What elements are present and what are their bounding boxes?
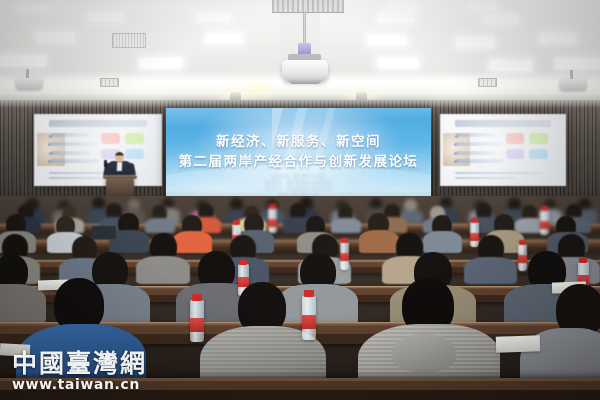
bottle-label	[190, 318, 204, 332]
slide-bullet	[51, 159, 100, 163]
ceiling-panel-light	[206, 34, 242, 43]
water-bottle	[340, 242, 349, 270]
slide-left	[34, 114, 162, 186]
ceiling-panel-light	[140, 58, 182, 68]
laptop	[92, 226, 116, 239]
attendee-torso	[145, 218, 175, 233]
ceiling	[0, 0, 600, 104]
ceiling-panel-light	[368, 35, 406, 45]
ceiling-panel-light	[484, 14, 518, 23]
attendee-torso	[423, 231, 462, 253]
ceiling-air-grille	[112, 33, 146, 48]
water-bottle	[302, 296, 316, 340]
bottle-label	[540, 221, 549, 229]
projection-screen-right	[440, 114, 566, 186]
paper-handout	[496, 335, 541, 353]
desk-front-lip	[0, 378, 600, 400]
ceiling-panel-light	[540, 33, 576, 43]
bottle-cap	[541, 206, 548, 211]
audience-seating-area	[0, 196, 600, 400]
ceiling-panel-light	[470, 2, 498, 10]
ceiling-panel-light	[378, 58, 418, 68]
ceiling-panel-light	[18, 4, 48, 12]
bottle-cap	[471, 218, 478, 223]
banner-headline-line2: 第二届两岸产经合作与创新发展论坛	[166, 150, 431, 170]
bottle-label	[302, 315, 316, 329]
ceiling-panel-light	[0, 55, 46, 66]
slide-swatch-pink	[101, 133, 120, 144]
paper-handout	[0, 343, 30, 357]
side-projector-left-icon	[16, 78, 42, 89]
bottle-cap	[233, 220, 240, 225]
slide-right	[440, 114, 566, 186]
slide-swatch-pink	[506, 133, 525, 144]
bottle-cap	[519, 240, 526, 245]
wall-outlet-plate	[100, 78, 119, 87]
slide-bullet	[51, 133, 89, 137]
slide-bullet	[456, 159, 504, 163]
slide-bullet	[51, 151, 91, 155]
bottle-cap	[239, 260, 247, 265]
ceiling-panel-light	[388, 3, 418, 11]
speaker-head	[115, 152, 124, 162]
bottle-label	[518, 255, 527, 263]
ceiling-panel-light	[456, 37, 494, 47]
slide-footer-note	[455, 172, 543, 175]
ceiling-panel-light	[88, 12, 122, 21]
bottle-cap	[341, 238, 348, 243]
slide-swatch-blue	[529, 149, 548, 160]
conference-photo: 新经济、新服务、新空间 第二届两岸产经合作与创新发展论坛 主办单位：厦门市人民政…	[0, 0, 600, 400]
bottle-label	[268, 219, 277, 227]
projection-screen-left	[34, 114, 162, 186]
slide-swatch-green	[125, 133, 144, 144]
attendee-torso	[136, 256, 190, 284]
slide-bullet	[456, 142, 501, 146]
ceiling-panel-light	[556, 58, 600, 69]
slide-swatch-purple	[506, 149, 525, 160]
bottle-cap	[579, 258, 587, 263]
projector-mount-pole	[303, 11, 306, 45]
ceiling-panel-light	[196, 12, 230, 21]
bottle-cap	[269, 204, 276, 209]
ceiling-panel-light	[378, 13, 414, 22]
slide-bullet	[51, 142, 97, 146]
wall-top-highlight	[0, 100, 600, 108]
water-bottle	[190, 300, 204, 342]
hoodie-hood	[392, 334, 456, 372]
attendee-torso	[464, 257, 517, 284]
water-bottle	[518, 244, 527, 271]
ceiling-panel-light	[36, 32, 74, 42]
slide-swatch-blue	[125, 149, 144, 160]
attendee-torso	[278, 284, 358, 326]
slide-bullet	[456, 151, 495, 155]
side-projector-right-icon	[560, 79, 586, 90]
banner-headline-line1: 新经济、新服务、新空间	[166, 130, 431, 150]
bottle-label	[470, 233, 479, 241]
slide-footer-note	[455, 177, 515, 180]
slide-title-bar	[49, 120, 146, 126]
attendee-torso	[331, 218, 361, 233]
bottle-label	[340, 253, 349, 261]
ceiling-air-conditioner	[272, 0, 344, 13]
attendee-torso	[359, 230, 399, 253]
wall-outlet-plate	[478, 78, 497, 87]
bottle-cap	[304, 290, 314, 297]
water-bottle	[268, 208, 277, 233]
projector-lens	[288, 78, 322, 84]
bottle-cap	[192, 294, 202, 301]
microphone-icon	[104, 160, 107, 167]
slide-swatch-green	[529, 133, 548, 144]
slide-footer-note	[49, 177, 110, 180]
water-bottle	[540, 210, 549, 235]
attendee-torso	[173, 231, 212, 253]
slide-title-bar	[455, 120, 551, 126]
slide-bullet	[456, 133, 494, 137]
speaker-shirt	[117, 162, 122, 171]
